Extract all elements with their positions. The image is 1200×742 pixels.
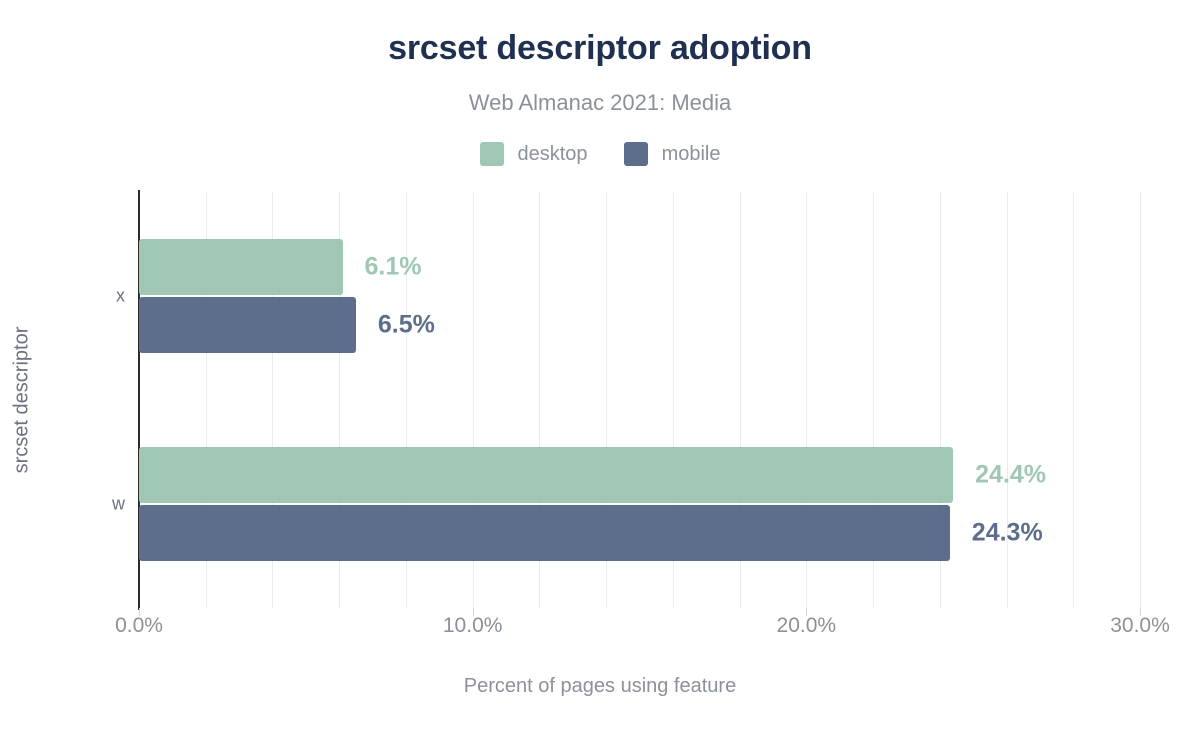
chart-container: srcset descriptor adoption Web Almanac 2… bbox=[0, 0, 1200, 742]
bar-desktop-w[interactable] bbox=[139, 447, 953, 503]
bar-mobile-w[interactable] bbox=[139, 505, 950, 561]
plot-area: 6.1%6.5%24.4%24.3% bbox=[139, 192, 1140, 608]
legend-item-mobile[interactable]: mobile bbox=[624, 142, 721, 166]
chart-legend: desktopmobile bbox=[0, 142, 1200, 166]
x-tick-label: 0.0% bbox=[115, 614, 163, 638]
x-tick-label: 30.0% bbox=[1110, 614, 1170, 638]
x-tick-label: 10.0% bbox=[443, 614, 503, 638]
bar-mobile-x[interactable] bbox=[139, 297, 356, 353]
gridline bbox=[1140, 192, 1141, 608]
y-axis-title: srcset descriptor bbox=[11, 327, 34, 474]
bar-value-label-desktop-w: 24.4% bbox=[975, 461, 1046, 490]
x-tick-label: 20.0% bbox=[777, 614, 837, 638]
legend-swatch-mobile bbox=[624, 142, 648, 166]
chart-title: srcset descriptor adoption bbox=[0, 30, 1200, 67]
legend-item-desktop[interactable]: desktop bbox=[480, 142, 588, 166]
legend-label-mobile: mobile bbox=[662, 143, 721, 166]
chart-subtitle: Web Almanac 2021: Media bbox=[0, 90, 1200, 116]
bar-desktop-x[interactable] bbox=[139, 239, 343, 295]
y-tick-label-w: w bbox=[112, 494, 125, 515]
bar-value-label-desktop-x: 6.1% bbox=[365, 253, 422, 282]
legend-label-desktop: desktop bbox=[518, 143, 588, 166]
x-axis-title: Percent of pages using feature bbox=[0, 675, 1200, 698]
bar-value-label-mobile-w: 24.3% bbox=[972, 519, 1043, 548]
y-tick-label-x: x bbox=[116, 286, 125, 307]
gridline bbox=[1073, 192, 1074, 608]
bar-value-label-mobile-x: 6.5% bbox=[378, 311, 435, 340]
legend-swatch-desktop bbox=[480, 142, 504, 166]
